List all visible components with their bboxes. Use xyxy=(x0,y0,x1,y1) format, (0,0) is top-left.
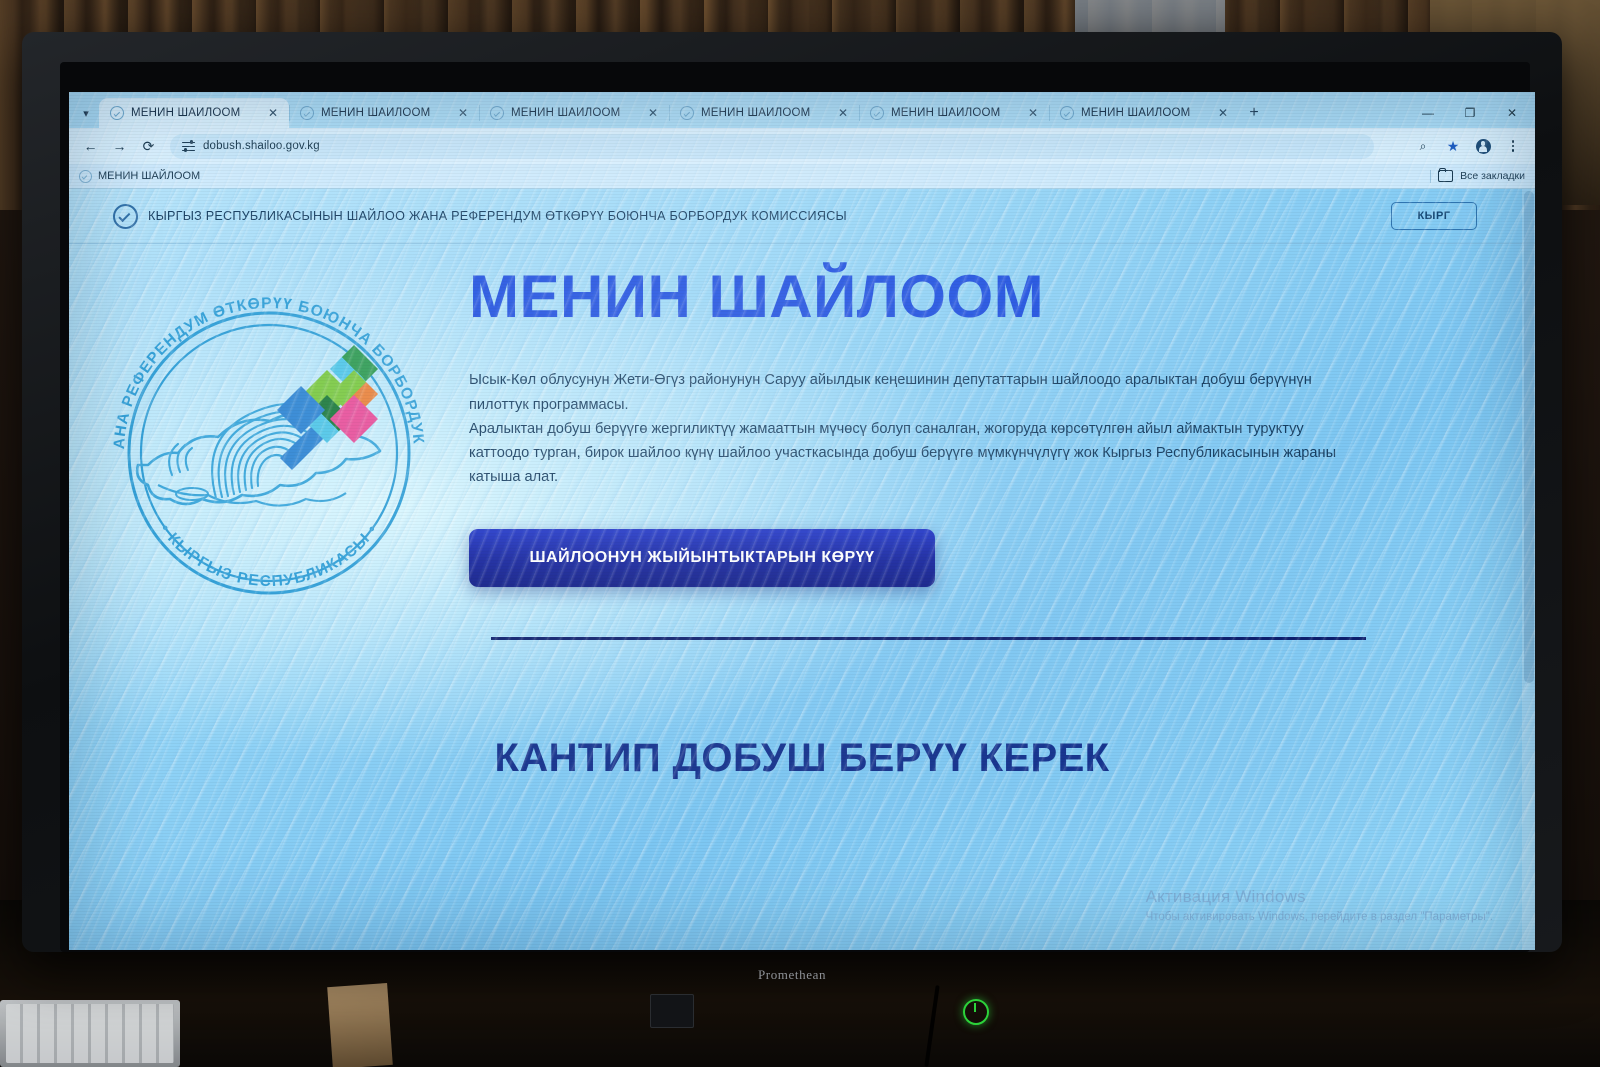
zoom-icon[interactable]: ⌕ xyxy=(1413,136,1433,156)
folder-icon xyxy=(1438,170,1453,182)
windows-activation-watermark: Активация Windows Чтобы активировать Win… xyxy=(1146,887,1493,923)
window-close-button[interactable]: ✕ xyxy=(1491,98,1533,128)
tab-title: МЕНИН ШАЙЛООМ xyxy=(701,107,828,119)
tab-title: МЕНИН ШАЙЛООМ xyxy=(891,107,1018,119)
new-tab-button[interactable]: + xyxy=(1239,98,1269,128)
tab-divider xyxy=(1049,105,1050,121)
browser-toolbar: ← → ⟳ dobush.shailoo.gov.kg ⌕ ★ xyxy=(69,128,1535,164)
bookmark-item[interactable]: МЕНИН ШАЙЛООМ xyxy=(79,170,200,183)
tab-divider xyxy=(669,105,670,121)
monitor-brand-label: Promethean xyxy=(22,967,1562,983)
emblem-graphics: ШАЙЛОО ЖАНА РЕФЕРЕНДУМ ӨТКӨРҮҮ БОЮНЧА БО… xyxy=(96,280,442,626)
back-icon[interactable]: ← xyxy=(77,133,104,160)
cec-logo-check-icon xyxy=(113,204,138,229)
view-results-button[interactable]: ШАЙЛООНУН ЖЫЙЫНТЫКТАРЫН КӨРҮҮ xyxy=(469,529,935,587)
paragraph-1: Ысык-Көл облусунун Жети-Өгүз районунун С… xyxy=(469,368,1349,416)
tab-title: МЕНИН ШАЙЛООМ xyxy=(131,107,258,119)
reload-icon[interactable]: ⟳ xyxy=(135,133,162,160)
chrome-menu-icon[interactable] xyxy=(1503,136,1523,156)
forward-icon[interactable]: → xyxy=(106,133,133,160)
main-column: МЕНИН ШАЙЛООМ Ысык-Көл облусунун Жети-Өг… xyxy=(469,258,1535,640)
tab-close-icon[interactable]: ✕ xyxy=(835,106,851,120)
browser-tab-5[interactable]: МЕНИН ШАЙЛООМ ✕ xyxy=(859,98,1049,128)
tab-favicon-check-icon xyxy=(490,106,504,120)
browser-tab-3[interactable]: МЕНИН ШАЙЛООМ ✕ xyxy=(479,98,669,128)
window-maximize-button[interactable]: ❐ xyxy=(1449,98,1491,128)
all-bookmarks-button[interactable]: Все закладки xyxy=(1430,170,1525,183)
section-divider xyxy=(491,637,1366,640)
browser-tab-2[interactable]: МЕНИН ШАЙЛООМ ✕ xyxy=(289,98,479,128)
paragraph-2: Аралыктан добуш берүүгө жергиликтүү жама… xyxy=(469,417,1349,490)
section-heading: КАНТИП ДОБУШ БЕРҮҮ КЕРЕК xyxy=(69,736,1535,781)
window-controls: — ❐ ✕ xyxy=(1407,98,1535,128)
tab-title: МЕНИН ШАЙЛООМ xyxy=(321,107,448,119)
bookmarks-divider xyxy=(1430,170,1431,183)
bookmark-star-icon[interactable]: ★ xyxy=(1443,136,1463,156)
tab-close-icon[interactable]: ✕ xyxy=(1025,106,1041,120)
tab-favicon-check-icon xyxy=(300,106,314,120)
browser-tab-1[interactable]: МЕНИН ШАЙЛООМ ✕ xyxy=(99,98,289,128)
tab-divider xyxy=(289,105,290,121)
web-page: КЫРГЫЗ РЕСПУБЛИКАСЫНЫН ШАЙЛОО ЖАНА РЕФЕР… xyxy=(69,189,1535,950)
monitor: Promethean ▾ МЕНИН ШАЙЛООМ ✕ МЕНИН ШАЙЛО… xyxy=(22,32,1562,952)
watermark-line1: Активация Windows xyxy=(1146,887,1493,907)
how-to-vote-section: КАНТИП ДОБУШ БЕРҮҮ КЕРЕК xyxy=(69,736,1535,781)
site-header: КЫРГЫЗ РЕСПУБЛИКАСЫНЫН ШАЙЛОО ЖАНА РЕФЕР… xyxy=(69,189,1535,244)
intro-text: Ысык-Көл облусунун Жети-Өгүз районунун С… xyxy=(469,368,1349,489)
site-settings-sliders-icon[interactable] xyxy=(182,141,195,152)
browser-tab-6[interactable]: МЕНИН ШАЙЛООМ ✕ xyxy=(1049,98,1239,128)
svg-text:• КЫРГЫЗ РЕСПУБЛИКАСЫ •: • КЫРГЫЗ РЕСПУБЛИКАСЫ • xyxy=(156,521,381,590)
address-bar-url: dobush.shailoo.gov.kg xyxy=(203,140,320,152)
watermark-line2: Чтобы активировать Windows, перейдите в … xyxy=(1146,911,1493,923)
tab-favicon-check-icon xyxy=(110,106,124,120)
page-content: ШАЙЛОО ЖАНА РЕФЕРЕНДУМ ӨТКӨРҮҮ БОЮНЧА БО… xyxy=(69,244,1535,640)
monitor-port-panel xyxy=(650,994,694,1028)
tab-favicon-check-icon xyxy=(680,106,694,120)
scrollbar-thumb[interactable] xyxy=(1524,191,1534,683)
tab-close-icon[interactable]: ✕ xyxy=(1215,106,1231,120)
tab-divider xyxy=(859,105,860,121)
page-scrollbar[interactable] xyxy=(1522,189,1535,950)
tab-divider xyxy=(479,105,480,121)
avatar xyxy=(1476,139,1491,154)
bookmark-favicon-check-icon xyxy=(79,170,92,183)
tab-favicon-check-icon xyxy=(870,106,884,120)
tab-close-icon[interactable]: ✕ xyxy=(265,106,281,120)
language-selector-button[interactable]: КЫРГ xyxy=(1391,202,1477,230)
toolbar-icons: ⌕ ★ xyxy=(1413,136,1527,156)
emblem-column: ШАЙЛОО ЖАНА РЕФЕРЕНДУМ ӨТКӨРҮҮ БОЮНЧА БО… xyxy=(69,258,469,640)
bookmark-label: МЕНИН ШАЙЛООМ xyxy=(98,170,200,182)
tab-favicon-check-icon xyxy=(1060,106,1074,120)
power-led-icon[interactable] xyxy=(963,999,989,1025)
all-bookmarks-label: Все закладки xyxy=(1460,170,1525,182)
browser-tabstrip: ▾ МЕНИН ШАЙЛООМ ✕ МЕНИН ШАЙЛООМ ✕ МЕНИН … xyxy=(69,92,1535,128)
emblem-text-bottom: • КЫРГЫЗ РЕСПУБЛИКАСЫ • xyxy=(156,521,381,590)
tab-search-chevron-down-icon[interactable]: ▾ xyxy=(73,98,99,128)
profile-avatar-icon[interactable] xyxy=(1473,136,1493,156)
tab-close-icon[interactable]: ✕ xyxy=(645,106,661,120)
keyboard xyxy=(0,1000,180,1067)
address-bar[interactable]: dobush.shailoo.gov.kg xyxy=(170,134,1374,159)
paper-sheet xyxy=(327,983,393,1067)
bookmarks-bar: МЕНИН ШАЙЛООМ Все закладки xyxy=(69,164,1535,189)
keyboard-keys xyxy=(6,1004,174,1063)
photo-scene: Promethean ▾ МЕНИН ШАЙЛООМ ✕ МЕНИН ШАЙЛО… xyxy=(0,0,1600,1067)
cec-emblem: ШАЙЛОО ЖАНА РЕФЕРЕНДУМ ӨТКӨРҮҮ БОЮНЧА БО… xyxy=(96,280,442,626)
window-minimize-button[interactable]: — xyxy=(1407,98,1449,128)
tab-title: МЕНИН ШАЙЛООМ xyxy=(1081,107,1208,119)
organization-title: КЫРГЫЗ РЕСПУБЛИКАСЫНЫН ШАЙЛОО ЖАНА РЕФЕР… xyxy=(148,209,847,223)
screen: ▾ МЕНИН ШАЙЛООМ ✕ МЕНИН ШАЙЛООМ ✕ МЕНИН … xyxy=(69,92,1535,950)
tab-title: МЕНИН ШАЙЛООМ xyxy=(511,107,638,119)
browser-tab-4[interactable]: МЕНИН ШАЙЛООМ ✕ xyxy=(669,98,859,128)
tab-close-icon[interactable]: ✕ xyxy=(455,106,471,120)
page-title: МЕНИН ШАЙЛООМ xyxy=(469,266,1467,328)
